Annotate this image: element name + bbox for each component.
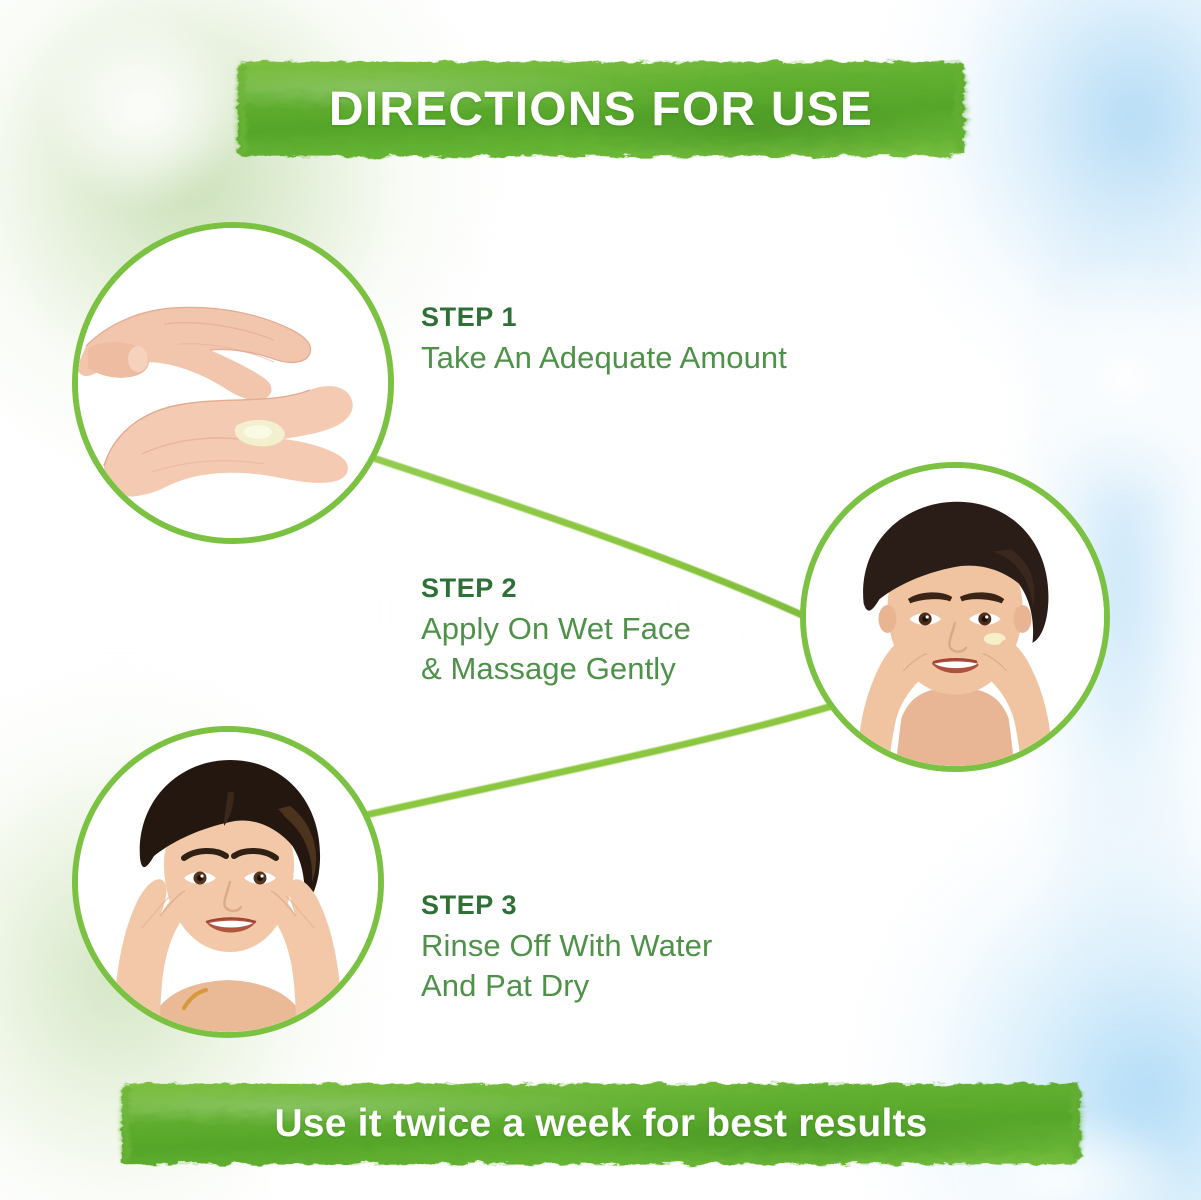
footer-note-banner: Use it twice a week for best results [122,1084,1080,1164]
step-1-description: Take An Adequate Amount [421,338,941,378]
step-2-description-line-2: & Massage Gently [421,649,821,689]
step-3-description-line-1: Rinse Off With Water [421,926,821,966]
step-1-text: STEP 1 Take An Adequate Amount [421,302,941,378]
woman-rinsed-clean-face-icon [78,732,378,1032]
step-1-image-circle [72,222,394,544]
step-3-description: Rinse Off With Water And Pat Dry [421,926,821,1005]
step-3-number: STEP 3 [421,890,821,921]
step-2-description-line-1: Apply On Wet Face [421,609,821,649]
step-2-number: STEP 2 [421,573,821,604]
directions-for-use-infographic: DIRECTIONS FOR USE [0,0,1201,1200]
footer-note: Use it twice a week for best results [274,1102,927,1146]
woman-applying-to-face-icon [806,468,1104,766]
connector-step2-to-step3 [300,706,832,830]
background-cloud-top-left [40,10,250,210]
step-3-image-circle [72,726,384,1038]
hands-dispensing-product-icon [78,228,388,538]
step-2-image-circle [800,462,1110,772]
page-title-banner: DIRECTIONS FOR USE [238,62,964,156]
page-title: DIRECTIONS FOR USE [329,82,873,137]
step-3-text: STEP 3 Rinse Off With Water And Pat Dry [421,890,821,1005]
step-1-number: STEP 1 [421,302,941,333]
step-2-description: Apply On Wet Face & Massage Gently [421,609,821,688]
step-2-text: STEP 2 Apply On Wet Face & Massage Gentl… [421,573,821,688]
step-3-description-line-2: And Pat Dry [421,966,821,1006]
